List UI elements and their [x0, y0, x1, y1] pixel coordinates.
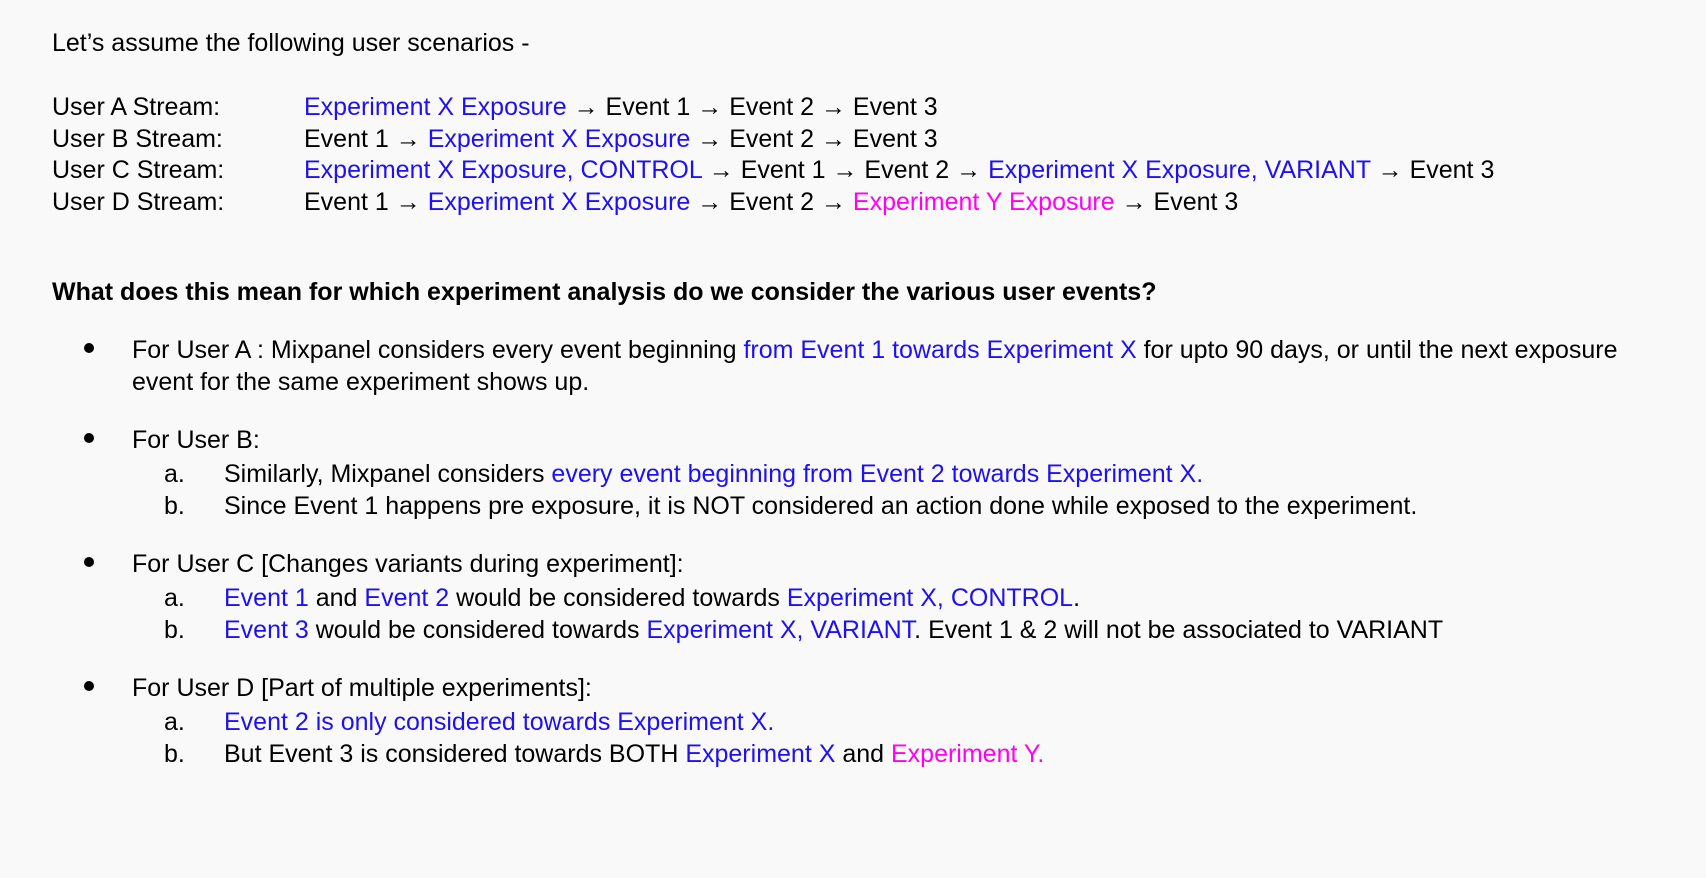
- bullet-dot-shape: [84, 343, 94, 353]
- intro-paragraph: Let’s assume the following user scenario…: [52, 26, 1682, 60]
- text-segment: would be considered towards: [449, 584, 787, 612]
- text-segment: Event 3: [1154, 188, 1239, 216]
- text-segment: Experiment X: [685, 740, 835, 768]
- user-stream-sequence: Experiment X Exposure → Event 1 → Event …: [304, 92, 938, 124]
- text-segment: Event 1: [606, 93, 691, 121]
- text-segment: Experiment X Exposure, CONTROL: [304, 156, 702, 184]
- bullet-text: For User C [Changes variants during expe…: [132, 548, 1632, 580]
- text-segment: →: [690, 125, 729, 153]
- text-segment: Similarly, Mixpanel considers: [224, 460, 551, 488]
- text-segment: Event 3: [853, 93, 938, 121]
- sub-list-marker: a.: [164, 706, 224, 738]
- text-segment: Experiment Y Exposure: [853, 188, 1115, 216]
- text-segment: Experiment X, CONTROL: [787, 584, 1073, 612]
- text-segment: Event 3: [224, 616, 309, 644]
- question-heading: What does this mean for which experiment…: [52, 276, 1682, 308]
- text-segment: every event beginning from Event 2 towar…: [551, 460, 1203, 488]
- sub-list-item: a.Event 2 is only considered towards Exp…: [52, 706, 1682, 738]
- sub-list-marker: a.: [164, 582, 224, 614]
- text-segment: Event 2: [729, 188, 814, 216]
- sub-list-text: Event 2 is only considered towards Exper…: [224, 706, 1682, 738]
- text-segment: Event 2: [864, 156, 949, 184]
- text-segment: Event 2 is only considered towards Exper…: [224, 708, 774, 736]
- user-stream-row: User C Stream:Experiment X Exposure, CON…: [52, 155, 1682, 187]
- user-stream-row: User D Stream:Event 1 → Experiment X Exp…: [52, 187, 1682, 219]
- text-segment: →: [567, 93, 606, 121]
- sub-list-text: Event 1 and Event 2 would be considered …: [224, 582, 1682, 614]
- text-segment: →: [826, 156, 865, 184]
- user-stream-label: User B Stream:: [52, 124, 304, 156]
- user-stream-label: User A Stream:: [52, 92, 304, 124]
- sub-list-text: Since Event 1 happens pre exposure, it i…: [224, 490, 1682, 522]
- text-segment: Event 2: [364, 584, 449, 612]
- bullet-block: For User A : Mixpanel considers every ev…: [52, 334, 1682, 398]
- text-segment: Experiment Y.: [891, 740, 1044, 768]
- text-segment: →: [690, 188, 729, 216]
- user-stream-sequence: Event 1 → Experiment X Exposure → Event …: [304, 124, 938, 156]
- bullet-text: For User D [Part of multiple experiments…: [132, 672, 1632, 704]
- sub-list-item: b.But Event 3 is considered towards BOTH…: [52, 738, 1682, 770]
- text-segment: →: [690, 93, 729, 121]
- sub-list-item: b.Event 3 would be considered towards Ex…: [52, 614, 1682, 646]
- bullet-item: For User C [Changes variants during expe…: [52, 548, 1682, 580]
- text-segment: Event 1: [224, 584, 309, 612]
- user-stream-row: User B Stream:Event 1 → Experiment X Exp…: [52, 124, 1682, 156]
- bullet-item: For User A : Mixpanel considers every ev…: [52, 334, 1682, 398]
- text-segment: from Event 1 towards Experiment X: [743, 336, 1136, 364]
- bullet-item: For User B:: [52, 424, 1682, 456]
- sub-list-item: b.Since Event 1 happens pre exposure, it…: [52, 490, 1682, 522]
- user-stream-row: User A Stream:Experiment X Exposure → Ev…: [52, 92, 1682, 124]
- bullet-block: For User B:a.Similarly, Mixpanel conside…: [52, 424, 1682, 522]
- bullet-dot-icon: [80, 548, 132, 580]
- text-segment: Experiment X Exposure: [428, 125, 691, 153]
- text-segment: Experiment X Exposure, VARIANT: [988, 156, 1371, 184]
- text-segment: Experiment X Exposure: [304, 93, 567, 121]
- sub-list-text: Event 3 would be considered towards Expe…: [224, 614, 1682, 646]
- text-segment: For User D [Part of multiple experiments…: [132, 674, 592, 702]
- text-segment: →: [389, 188, 428, 216]
- bullet-dot-shape: [84, 433, 94, 443]
- text-segment: Event 2: [729, 93, 814, 121]
- bullet-list: For User A : Mixpanel considers every ev…: [52, 334, 1682, 770]
- user-stream-sequence: Experiment X Exposure, CONTROL → Event 1…: [304, 155, 1494, 187]
- text-segment: Experiment X Exposure: [428, 188, 691, 216]
- sub-list-marker: b.: [164, 738, 224, 770]
- sub-list-text: But Event 3 is considered towards BOTH E…: [224, 738, 1682, 770]
- bullet-dot-shape: [84, 557, 94, 567]
- sub-list-item: a.Event 1 and Event 2 would be considere…: [52, 582, 1682, 614]
- bullet-dot-shape: [84, 681, 94, 691]
- text-segment: →: [949, 156, 988, 184]
- document-page: Let’s assume the following user scenario…: [0, 0, 1706, 878]
- user-stream-sequence: Event 1 → Experiment X Exposure → Event …: [304, 187, 1238, 219]
- bullet-block: For User D [Part of multiple experiments…: [52, 672, 1682, 770]
- text-segment: →: [389, 125, 428, 153]
- bullet-text: For User A : Mixpanel considers every ev…: [132, 334, 1632, 398]
- text-segment: would be considered towards: [309, 616, 647, 644]
- text-segment: →: [814, 93, 853, 121]
- text-segment: For User B:: [132, 426, 260, 454]
- text-segment: Event 1: [304, 125, 389, 153]
- sub-list-marker: a.: [164, 458, 224, 490]
- user-stream-list: User A Stream:Experiment X Exposure → Ev…: [52, 92, 1682, 218]
- sub-list: a.Event 1 and Event 2 would be considere…: [52, 582, 1682, 646]
- sub-list: a.Event 2 is only considered towards Exp…: [52, 706, 1682, 770]
- sub-list-item: a.Similarly, Mixpanel considers every ev…: [52, 458, 1682, 490]
- text-segment: →: [814, 125, 853, 153]
- sub-list: a.Similarly, Mixpanel considers every ev…: [52, 458, 1682, 522]
- user-stream-label: User D Stream:: [52, 187, 304, 219]
- text-segment: Experiment X, VARIANT: [646, 616, 914, 644]
- text-segment: →: [1371, 156, 1410, 184]
- bullet-block: For User C [Changes variants during expe…: [52, 548, 1682, 646]
- text-segment: Since Event 1 happens pre exposure, it i…: [224, 492, 1417, 520]
- bullet-dot-icon: [80, 424, 132, 456]
- text-segment: →: [702, 156, 741, 184]
- text-segment: .: [1073, 584, 1080, 612]
- sub-list-marker: b.: [164, 614, 224, 646]
- bullet-dot-icon: [80, 672, 132, 704]
- text-segment: For User A : Mixpanel considers every ev…: [132, 336, 743, 364]
- text-segment: But Event 3 is considered towards BOTH: [224, 740, 685, 768]
- text-segment: Event 3: [853, 125, 938, 153]
- text-segment: →: [1115, 188, 1154, 216]
- sub-list-text: Similarly, Mixpanel considers every even…: [224, 458, 1682, 490]
- text-segment: and: [309, 584, 365, 612]
- text-segment: Event 3: [1410, 156, 1495, 184]
- text-segment: →: [814, 188, 853, 216]
- sub-list-marker: b.: [164, 490, 224, 522]
- bullet-item: For User D [Part of multiple experiments…: [52, 672, 1682, 704]
- bullet-text: For User B:: [132, 424, 1632, 456]
- bullet-dot-icon: [80, 334, 132, 366]
- text-segment: and: [835, 740, 891, 768]
- user-stream-label: User C Stream:: [52, 155, 304, 187]
- text-segment: Event 1: [304, 188, 389, 216]
- text-segment: Event 1: [741, 156, 826, 184]
- text-segment: For User C [Changes variants during expe…: [132, 550, 684, 578]
- text-segment: . Event 1 & 2 will not be associated to …: [914, 616, 1443, 644]
- text-segment: Event 2: [729, 125, 814, 153]
